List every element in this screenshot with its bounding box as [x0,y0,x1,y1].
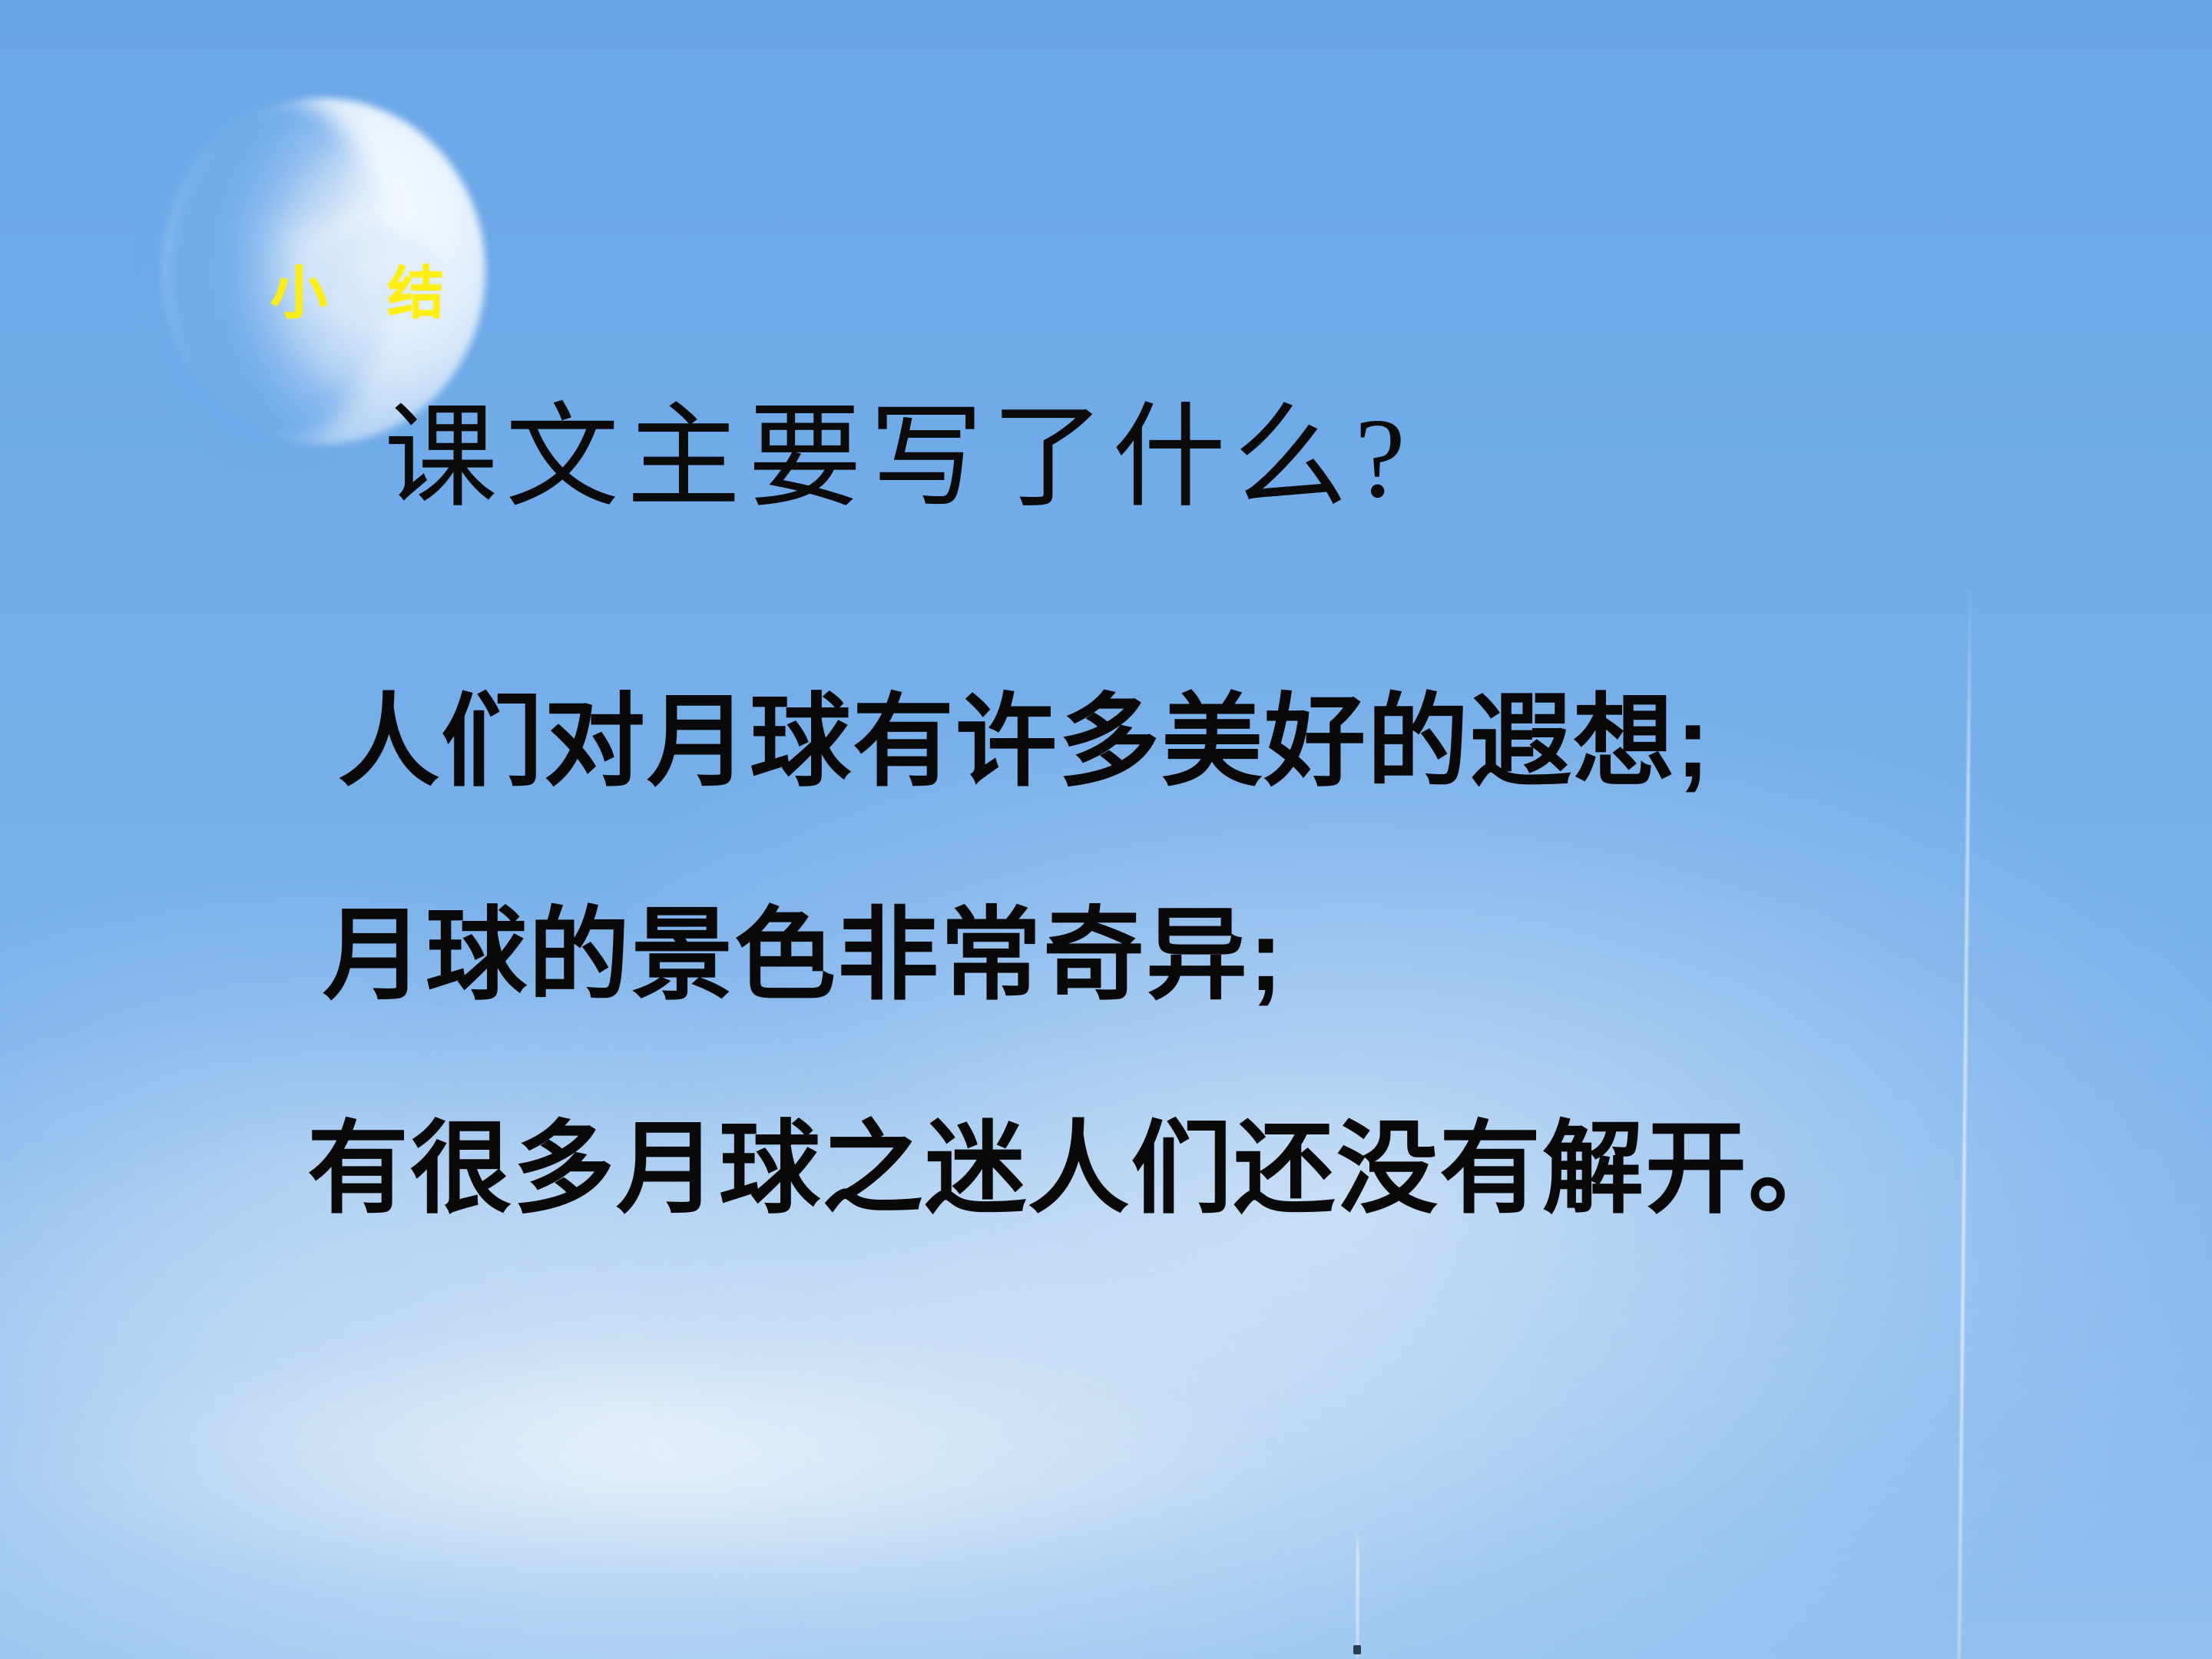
presentation-slide: 小 结 课文主要写了什么? 人们对月球有许多美好的遐想; 月球的景色非常奇异; … [0,0,2212,1659]
slide-title-question: 课文主要写了什么? [384,392,1413,526]
summary-point: 人们对月球有许多美好的遐想; [338,691,2212,793]
section-heading-summary: 小 结 [270,266,468,323]
summary-point: 有很多月球之迷人们还没有解开。 [307,1118,2212,1220]
summary-point: 月球的景色非常奇异; [323,905,2212,1006]
summary-points-list: 人们对月球有许多美好的遐想; 月球的景色非常奇异; 有很多月球之迷人们还没有解开… [0,691,2212,1220]
